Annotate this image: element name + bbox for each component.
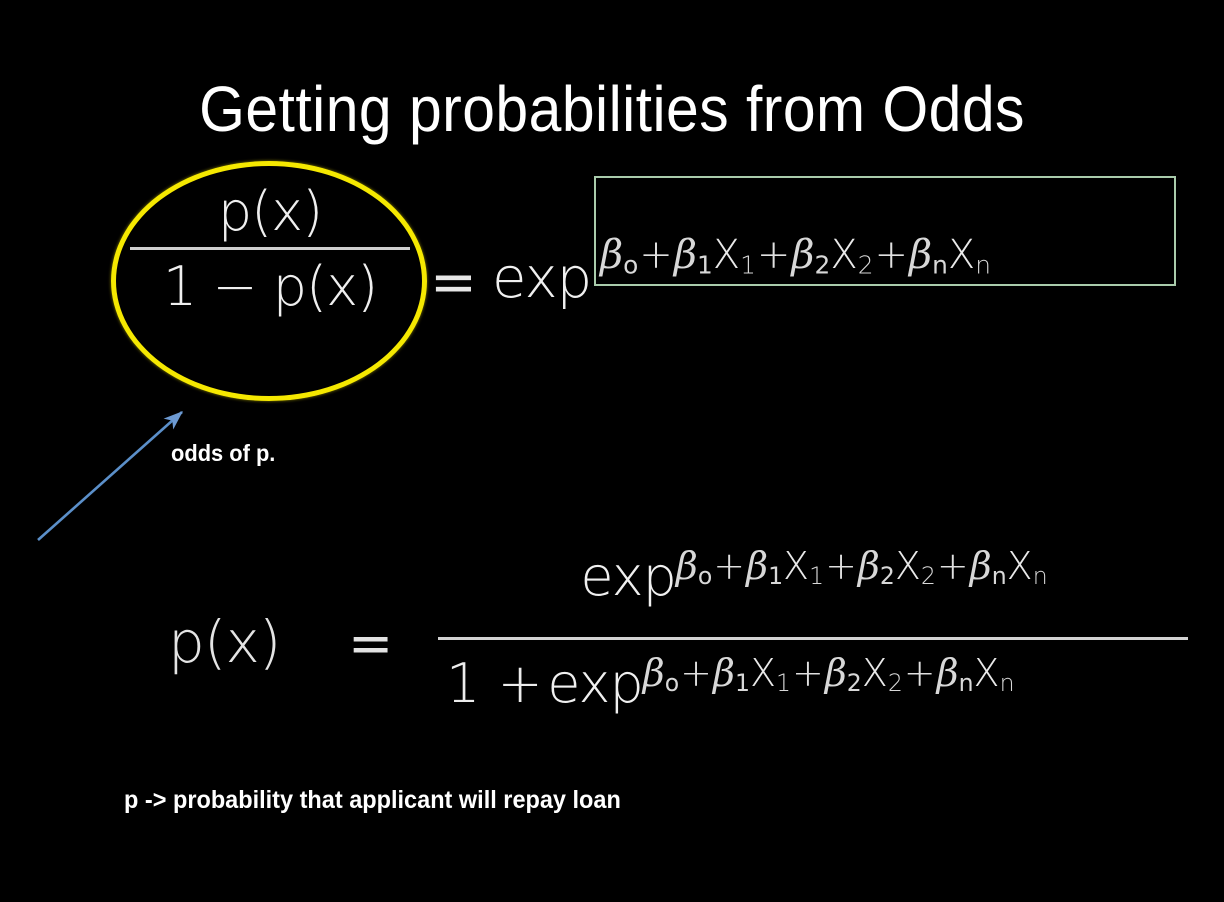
footnote-text: p -> probability that applicant will rep… xyxy=(124,786,621,815)
beta-2-subscript: 2 xyxy=(880,562,895,590)
plus-sign: + xyxy=(903,651,937,695)
probability-numerator: expβo+β1X1+β2X2+βnXn xyxy=(438,545,1190,637)
beta-0-subscript: o xyxy=(698,562,712,590)
x-2-subscript: 2 xyxy=(888,669,903,697)
x-1: X1 xyxy=(783,544,824,588)
x-2-subscript: 2 xyxy=(858,250,874,279)
odds-equals-sign: = xyxy=(430,250,477,315)
x-2: X2 xyxy=(862,651,903,695)
plus-sign: + xyxy=(824,544,858,588)
slide-canvas: Getting probabilities from Odds p(x) 1 −… xyxy=(0,0,1224,902)
probability-equals-sign: = xyxy=(348,612,393,675)
beta-2: β2 xyxy=(791,232,830,278)
annotation-arrow-icon xyxy=(20,390,220,555)
beta-1: β1 xyxy=(746,544,783,588)
beta-n: βn xyxy=(909,232,948,278)
plus-sign: + xyxy=(679,651,713,695)
odds-annotation-label: odds of p. xyxy=(171,440,275,467)
beta-2: β2 xyxy=(825,651,862,695)
x-1-subscript: 1 xyxy=(809,562,824,590)
plus-sign: + xyxy=(756,232,792,278)
x-1: X1 xyxy=(713,232,756,278)
beta-0: βo xyxy=(600,232,638,278)
denominator-exp-label: exp xyxy=(547,652,643,715)
beta-n: βn xyxy=(970,544,1007,588)
probability-lhs: p(x) xyxy=(168,608,280,676)
beta-0-subscript: o xyxy=(665,669,679,697)
probability-denominator: 1 + expβo+β1X1+β2X2+βnXn xyxy=(438,640,1190,748)
x-2: X2 xyxy=(830,232,873,278)
x-n-subscript: n xyxy=(1033,562,1048,590)
yellow-highlight-ellipse xyxy=(111,161,427,401)
beta-n-subscript: n xyxy=(932,250,948,279)
plus-sign: + xyxy=(791,651,825,695)
x-2: X2 xyxy=(895,544,936,588)
x-1: X1 xyxy=(750,651,791,695)
numerator-exponent: βo+β1X1+β2X2+βnXn xyxy=(676,544,1048,588)
x-2-subscript: 2 xyxy=(921,562,936,590)
beta-2: β2 xyxy=(858,544,895,588)
x-n: Xn xyxy=(1007,544,1048,588)
plus-sign: + xyxy=(936,544,970,588)
beta-2-subscript: 2 xyxy=(847,669,862,697)
denominator-one-plus: 1 + xyxy=(438,652,543,715)
beta-0-subscript: o xyxy=(623,250,638,279)
x-n: Xn xyxy=(974,651,1015,695)
plus-sign: + xyxy=(712,544,746,588)
x-1-subscript: 1 xyxy=(740,250,756,279)
beta-1-subscript: 1 xyxy=(768,562,783,590)
denominator-exponent: βo+β1X1+β2X2+βnXn xyxy=(643,651,1015,695)
x-n-subscript: n xyxy=(975,250,991,279)
x-1-subscript: 1 xyxy=(776,669,791,697)
odds-exponent: βo+β1X1+β2X2+βnXn xyxy=(600,232,991,279)
beta-1: β1 xyxy=(713,651,750,695)
beta-1: β1 xyxy=(674,232,713,278)
x-n: Xn xyxy=(948,232,991,278)
beta-n-subscript: n xyxy=(959,669,974,697)
x-n-subscript: n xyxy=(1000,669,1015,697)
page-title: Getting probabilities from Odds xyxy=(49,72,1175,146)
beta-0: βo xyxy=(676,544,712,588)
beta-n: βn xyxy=(937,651,974,695)
beta-0: βo xyxy=(643,651,679,695)
beta-1-subscript: 1 xyxy=(735,669,750,697)
numerator-exp-label: exp xyxy=(580,545,676,608)
plus-sign: + xyxy=(638,232,674,278)
beta-n-subscript: n xyxy=(992,562,1007,590)
beta-2-subscript: 2 xyxy=(815,250,831,279)
probability-fraction: expβo+β1X1+β2X2+βnXn 1 + expβo+β1X1+β2X2… xyxy=(438,545,1190,748)
beta-1-subscript: 1 xyxy=(697,250,713,279)
plus-sign: + xyxy=(874,232,910,278)
odds-exp-label: exp xyxy=(492,246,591,311)
